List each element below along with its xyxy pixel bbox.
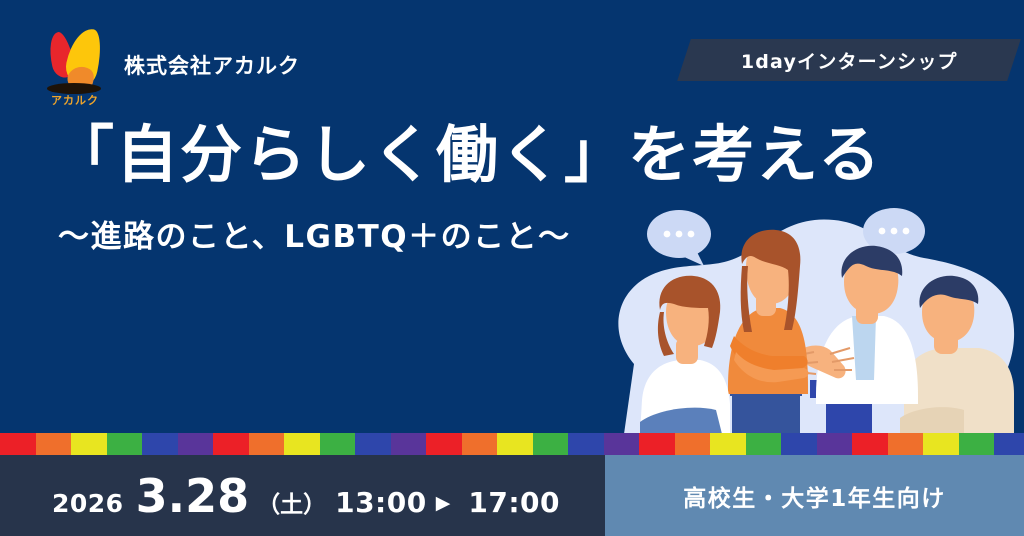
rainbow-stripe-block: [923, 433, 959, 455]
logo-wordmark: アカルク: [43, 92, 107, 108]
rainbow-stripe-block: [959, 433, 995, 455]
rainbow-stripe-block: [284, 433, 320, 455]
rainbow-stripe-block: [533, 433, 569, 455]
rainbow-stripe-block: [817, 433, 853, 455]
akaruku-logo-icon: アカルク: [38, 26, 110, 104]
rainbow-stripe-block: [36, 433, 72, 455]
target-audience-label: 高校生・大学1年生向け: [683, 479, 946, 513]
rainbow-stripe-block: [71, 433, 107, 455]
event-weekday: （土）: [257, 485, 326, 519]
program-type-badge: 1dayインターンシップ: [677, 39, 1021, 81]
program-type-badge-label: 1dayインターンシップ: [741, 47, 958, 74]
event-start-time: 13:00: [335, 486, 427, 519]
speech-bubble-left-icon: [647, 210, 711, 266]
event-datetime: 2026 3.28 （土） 13:00 ▶ 17:00: [52, 469, 560, 523]
rainbow-stripe-block: [355, 433, 391, 455]
rainbow-stripe-block: [604, 433, 640, 455]
page-subtitle: 〜進路のこと、LGBTQ＋のこと〜: [58, 222, 571, 253]
rainbow-stripe-block: [178, 433, 214, 455]
event-date-bar: 2026 3.28 （土） 13:00 ▶ 17:00: [0, 455, 605, 536]
rainbow-stripe-block: [568, 433, 604, 455]
rainbow-stripe: [0, 433, 1024, 455]
event-end-time: 17:00: [468, 486, 560, 519]
rainbow-stripe-block: [391, 433, 427, 455]
rainbow-stripe-block: [497, 433, 533, 455]
people-conversation-illustration: [604, 204, 1024, 434]
rainbow-stripe-block: [781, 433, 817, 455]
rainbow-stripe-block: [249, 433, 285, 455]
rainbow-stripe-block: [888, 433, 924, 455]
rainbow-stripe-block: [0, 433, 36, 455]
rainbow-stripe-block: [142, 433, 178, 455]
time-range-arrow-icon: ▶: [436, 492, 451, 514]
rainbow-stripe-block: [675, 433, 711, 455]
rainbow-stripe-block: [746, 433, 782, 455]
company-name: 株式会社アカルク: [124, 50, 300, 80]
page-title: 「自分らしく働く」を考える: [52, 124, 882, 186]
rainbow-stripe-block: [710, 433, 746, 455]
rainbow-stripe-block: [852, 433, 888, 455]
rainbow-stripe-block: [213, 433, 249, 455]
poster-banner: アカルク 株式会社アカルク 1dayインターンシップ 「自分らしく働く」を考える…: [0, 0, 1024, 536]
event-date: 3.28: [136, 469, 250, 523]
event-year: 2026: [52, 489, 124, 518]
rainbow-stripe-block: [426, 433, 462, 455]
rainbow-stripe-block: [994, 433, 1024, 455]
rainbow-stripe-block: [320, 433, 356, 455]
brand-header: アカルク 株式会社アカルク: [38, 26, 300, 104]
event-footer: 2026 3.28 （土） 13:00 ▶ 17:00 高校生・大学1年生向け: [0, 455, 1024, 536]
target-audience-bar: 高校生・大学1年生向け: [605, 455, 1024, 536]
rainbow-stripe-block: [107, 433, 143, 455]
rainbow-stripe-block: [462, 433, 498, 455]
rainbow-stripe-block: [639, 433, 675, 455]
